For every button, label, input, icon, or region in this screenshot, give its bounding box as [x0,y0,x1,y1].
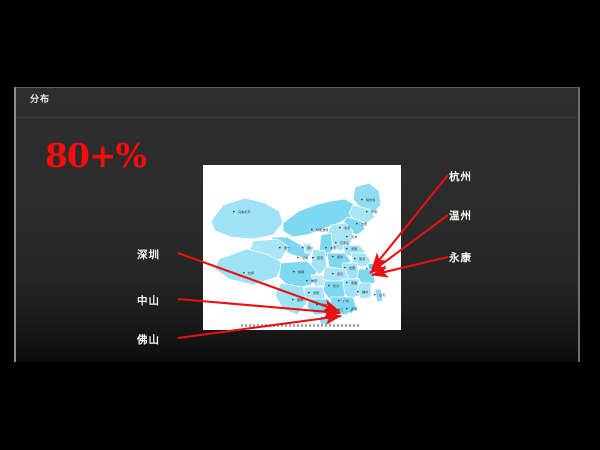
china-map-card: 乌鲁木齐哈尔滨长春沈阳呼和浩特北京天津石家庄银川太原济南西宁兰州西安郑州南京合肥… [203,165,401,330]
map-city-label: 昆明 [297,297,303,302]
map-city-label: 西宁 [284,245,290,250]
map-city-dot [346,282,348,284]
map-city-label: 沈阳 [361,221,367,226]
map-source-caption [241,324,361,327]
map-city-dot [292,299,294,301]
map-city-label: 石家庄 [340,240,349,245]
map-city-label: 南昌 [351,280,357,285]
map-city-dot [325,247,327,249]
map-city-dot [308,292,310,294]
callout-label-foshan: 佛山 [137,335,160,346]
page-title: 分布 [30,96,50,105]
map-city-dot [357,291,359,293]
map-city-label: 济南 [351,246,357,251]
map-city-label: 北京 [344,225,350,230]
map-city-dot [332,273,334,275]
map-city-dot [332,256,334,258]
map-city-label: 海口 [326,315,332,320]
map-city-dot [366,211,368,213]
callout-label-yongkang: 永康 [449,253,472,264]
map-city-dot [344,267,346,269]
map-city-dot [316,304,318,306]
map-city-dot [366,268,368,270]
map-city-dot [233,211,235,213]
map-city-label: 银川 [307,245,313,250]
map-city-label: 天津 [351,234,357,239]
map-city-dot [335,242,337,244]
map-city-label: 长春 [371,209,377,214]
map-city-dot [293,271,295,273]
header-divider [16,117,578,118]
map-city-label: 福州 [362,289,368,294]
map-city-dot [346,308,348,310]
map-city-dot [312,257,314,259]
map-city-label: 郑州 [337,254,343,259]
map-city-label: 贵阳 [313,290,319,295]
callout-label-wenzhou: 温州 [449,211,472,222]
map-city-label: 太原 [330,245,336,250]
map-city-label: 哈尔滨 [366,197,375,202]
callout-label-hangzhou: 杭州 [449,172,472,183]
map-city-label: 西安 [317,255,323,260]
map-city-label: 合肥 [349,265,355,270]
china-map-svg: 乌鲁木齐哈尔滨长春沈阳呼和浩特北京天津石家庄银川太原济南西宁兰州西安郑州南京合肥… [203,165,401,330]
map-city-label: 台北 [379,292,386,297]
map-city-label: 武汉 [337,271,343,276]
map-city-label: 南宁 [321,302,327,307]
map-city-label: 重庆 [311,278,317,283]
map-city-dot [354,258,356,260]
map-city-dot [302,247,304,249]
slide-root: 分布 80+% [0,0,600,450]
map-city-label: 成都 [298,269,304,274]
map-city-label: 呼和浩特 [316,227,328,232]
map-city-label: 香港 [351,306,358,311]
panel-top-border [14,87,580,88]
map-city-dot [356,223,358,225]
map-city-dot [328,285,330,287]
callout-label-zhongshan: 中山 [137,296,160,307]
callout-label-shenzhen: 深圳 [137,250,160,261]
map-city-label: 乌鲁木齐 [238,209,250,214]
map-city-dot [339,227,341,229]
map-city-label: 上海 [371,266,377,271]
map-city-label: 澳门 [337,307,343,312]
panel-right-border [578,87,580,362]
map-city-label: 拉萨 [248,270,254,275]
map-city-dot [321,317,323,319]
map-city-label: 长沙 [333,283,339,288]
map-city-dot [332,309,334,311]
map-city-dot [346,248,348,250]
panel-left-border [14,87,16,362]
map-city-label: 广州 [343,298,349,303]
map-city-dot [346,236,348,238]
stat-value: 80+% [45,139,146,172]
content-panel: 分布 80+% [14,87,580,362]
map-city-dot [306,280,308,282]
map-city-dot [374,294,376,296]
map-city-dot [243,272,245,274]
map-city-label: 南京 [359,256,365,261]
map-city-dot [311,229,313,231]
map-city-dot [338,300,340,302]
map-city-dot [361,199,363,201]
map-city-label: 兰州 [302,255,308,260]
map-city-dot [297,257,299,259]
map-city-dot [279,247,281,249]
